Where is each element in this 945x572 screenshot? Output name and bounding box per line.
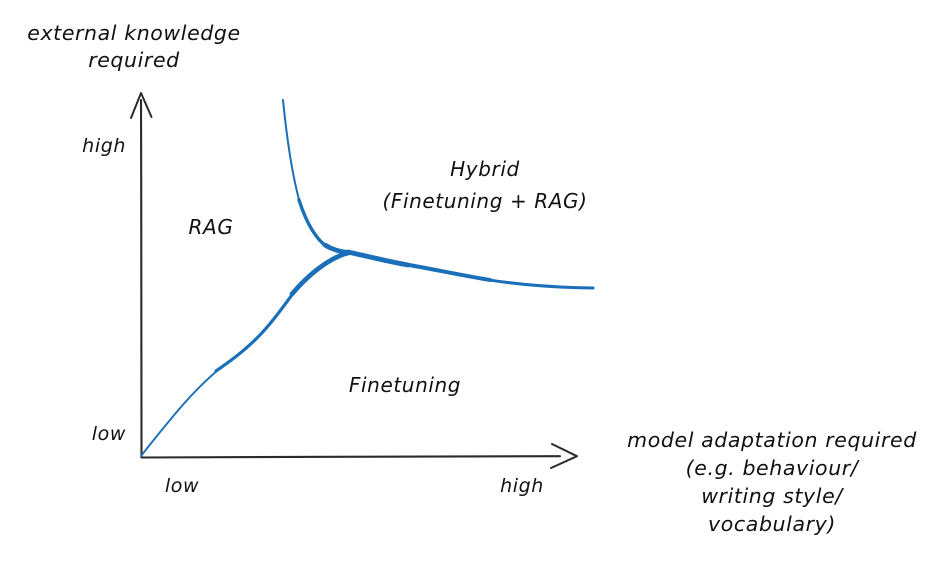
y-axis-title-line2: required <box>88 48 180 72</box>
finetuning-boundary-curve-thick <box>292 253 349 294</box>
axes-group <box>131 93 577 468</box>
hybrid-boundary-curve-mid <box>406 265 490 281</box>
boundary-curves-group <box>141 100 593 456</box>
rag-boundary-curve-mid <box>299 200 327 247</box>
region-label-hybrid-line1: Hybrid <box>450 157 520 181</box>
y-axis-tick-low: low <box>92 423 126 445</box>
x-axis-tick-high: high <box>500 475 544 497</box>
rag-boundary-curve-thin <box>283 100 300 203</box>
diagram-svg: external knowledge required high low low… <box>0 0 945 572</box>
region-label-finetuning: Finetuning <box>349 373 461 397</box>
region-label-hybrid-line2: (Finetuning + RAG) <box>382 189 587 213</box>
x-axis-title-line4: vocabulary) <box>708 512 836 536</box>
y-axis-title-line1: external knowledge <box>27 21 241 45</box>
x-axis-title-line3: writing style/ <box>701 484 844 508</box>
x-axis-tick-low: low <box>165 475 199 497</box>
x-axis-title-line1: model adaptation required <box>627 428 917 452</box>
hybrid-boundary-curve-thick <box>348 252 408 265</box>
finetuning-boundary-curve-mid <box>216 292 294 371</box>
diagram-canvas: external knowledge required high low low… <box>0 0 945 572</box>
finetuning-boundary-curve-thin <box>141 370 218 456</box>
x-axis-line <box>142 456 561 457</box>
y-axis-tick-high: high <box>82 135 126 157</box>
region-label-rag: RAG <box>189 215 234 239</box>
x-axis-title-line2: (e.g. behaviour/ <box>686 456 860 480</box>
y-axis-line <box>141 100 142 457</box>
hybrid-boundary-curve-thin <box>488 280 593 288</box>
